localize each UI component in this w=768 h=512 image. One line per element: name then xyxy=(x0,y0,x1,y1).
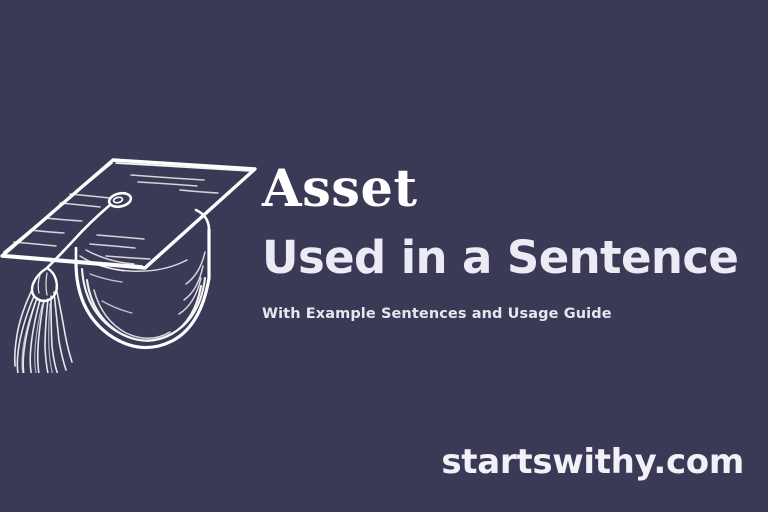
word-title: Asset xyxy=(262,160,762,218)
banner-card: Asset Used in a Sentence With Example Se… xyxy=(0,0,768,512)
page-title: Used in a Sentence xyxy=(262,230,762,286)
brand-watermark: startswithy.com xyxy=(441,442,744,482)
graduation-cap-icon xyxy=(0,138,275,373)
subtitle: With Example Sentences and Usage Guide xyxy=(262,304,762,324)
headline-group: Asset Used in a Sentence With Example Se… xyxy=(262,160,762,324)
